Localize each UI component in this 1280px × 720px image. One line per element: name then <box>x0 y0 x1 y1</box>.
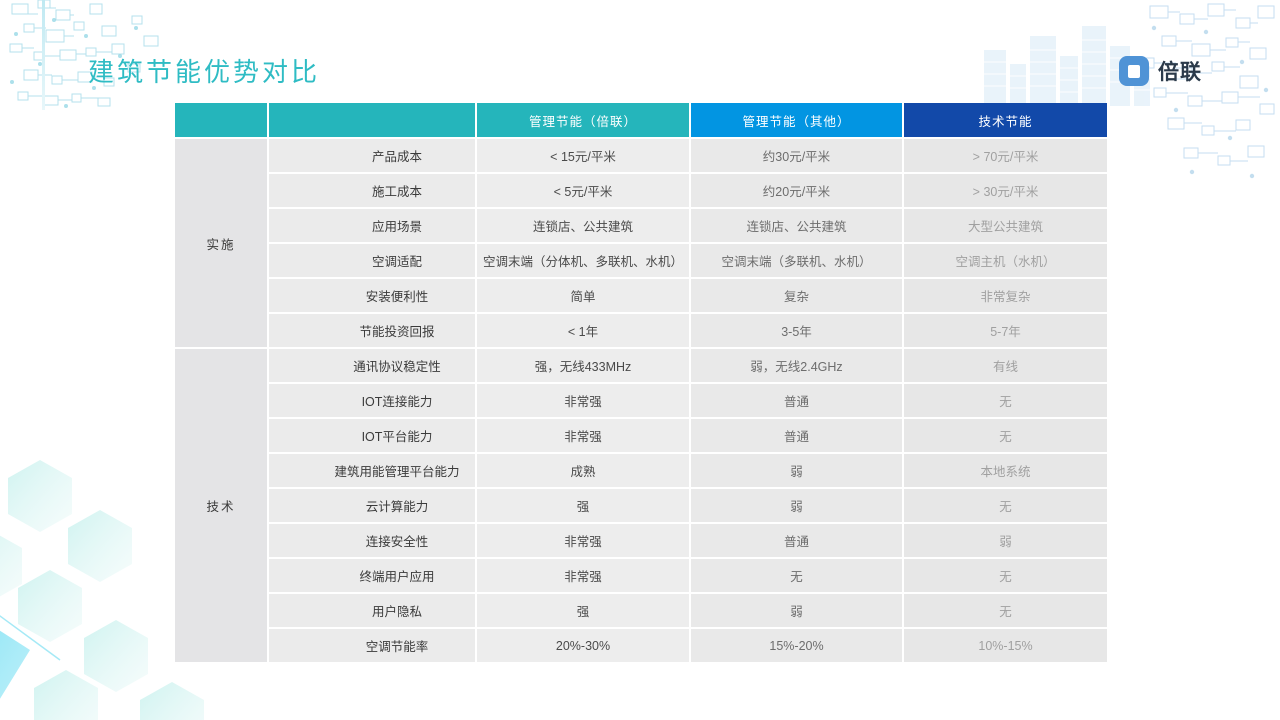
value-cell-tech: 无 <box>903 383 1107 418</box>
table-header-row: 管理节能（倍联） 管理节能（其他） 技术节能 <box>175 103 1107 138</box>
metric-name-cell: 空调节能率 <box>268 628 476 663</box>
metric-name-cell: 云计算能力 <box>268 488 476 523</box>
table-row: 施工成本< 5元/平米约20元/平米> 30元/平米 <box>175 173 1107 208</box>
rounded-square-logo-icon <box>1119 56 1149 86</box>
brand-logo: 倍联 <box>1119 56 1202 86</box>
value-cell-beilian: 20%-30% <box>476 628 690 663</box>
value-cell-other: 空调末端（多联机、水机） <box>690 243 903 278</box>
metric-name-cell: IOT连接能力 <box>268 383 476 418</box>
value-cell-other: 弱 <box>690 488 903 523</box>
value-cell-beilian: 空调末端（分体机、多联机、水机） <box>476 243 690 278</box>
value-cell-tech: 5-7年 <box>903 313 1107 348</box>
metric-name-cell: IOT平台能力 <box>268 418 476 453</box>
table-row: 空调节能率20%-30%15%-20%10%-15% <box>175 628 1107 663</box>
value-cell-beilian: 成熟 <box>476 453 690 488</box>
header-cell-section <box>175 103 268 138</box>
table-row: 安装便利性简单复杂非常复杂 <box>175 278 1107 313</box>
value-cell-other: 无 <box>690 558 903 593</box>
value-cell-tech: 弱 <box>903 523 1107 558</box>
value-cell-beilian: < 5元/平米 <box>476 173 690 208</box>
table-row: IOT平台能力非常强普通无 <box>175 418 1107 453</box>
metric-name-cell: 节能投资回报 <box>268 313 476 348</box>
blue-gradient-shape-decoration <box>0 520 190 720</box>
value-cell-beilian: 非常强 <box>476 523 690 558</box>
value-cell-tech: 本地系统 <box>903 453 1107 488</box>
table-row: 技术通讯协议稳定性强，无线433MHz弱，无线2.4GHz有线 <box>175 348 1107 383</box>
table-row: 空调适配空调末端（分体机、多联机、水机）空调末端（多联机、水机）空调主机（水机） <box>175 243 1107 278</box>
table-row: 实施产品成本< 15元/平米约30元/平米> 70元/平米 <box>175 138 1107 173</box>
value-cell-other: 弱 <box>690 593 903 628</box>
logo-inner-square <box>1128 65 1140 78</box>
metric-name-cell: 用户隐私 <box>268 593 476 628</box>
value-cell-beilian: < 15元/平米 <box>476 138 690 173</box>
header-cell-other: 管理节能（其他） <box>690 103 903 138</box>
section-label-cell: 实施 <box>175 138 268 348</box>
value-cell-beilian: 非常强 <box>476 383 690 418</box>
value-cell-tech: 有线 <box>903 348 1107 383</box>
value-cell-other: 复杂 <box>690 278 903 313</box>
brand-name: 倍联 <box>1158 56 1202 86</box>
value-cell-tech: 无 <box>903 488 1107 523</box>
table-row: 用户隐私强弱无 <box>175 593 1107 628</box>
value-cell-other: 普通 <box>690 383 903 418</box>
page-title: 建筑节能优势对比 <box>88 52 320 89</box>
metric-name-cell: 建筑用能管理平台能力 <box>268 453 476 488</box>
value-cell-tech: 无 <box>903 593 1107 628</box>
table-row: 节能投资回报< 1年3-5年5-7年 <box>175 313 1107 348</box>
value-cell-beilian: < 1年 <box>476 313 690 348</box>
table-header: 管理节能（倍联） 管理节能（其他） 技术节能 <box>175 103 1107 138</box>
comparison-table: 管理节能（倍联） 管理节能（其他） 技术节能 实施产品成本< 15元/平米约30… <box>175 103 1107 664</box>
value-cell-tech: > 30元/平米 <box>903 173 1107 208</box>
table-row: 建筑用能管理平台能力成熟弱本地系统 <box>175 453 1107 488</box>
metric-name-cell: 连接安全性 <box>268 523 476 558</box>
metric-name-cell: 产品成本 <box>268 138 476 173</box>
table-row: 终端用户应用非常强无无 <box>175 558 1107 593</box>
section-label-cell: 技术 <box>175 348 268 663</box>
slide-canvas: 建筑节能优势对比 倍联 管理节能（倍联） 管理节能（其他） 技术节能 实施产品成… <box>0 0 1280 720</box>
value-cell-tech: 无 <box>903 418 1107 453</box>
metric-name-cell: 应用场景 <box>268 208 476 243</box>
value-cell-tech: 无 <box>903 558 1107 593</box>
metric-name-cell: 终端用户应用 <box>268 558 476 593</box>
value-cell-beilian: 连锁店、公共建筑 <box>476 208 690 243</box>
value-cell-other: 3-5年 <box>690 313 903 348</box>
value-cell-beilian: 非常强 <box>476 418 690 453</box>
value-cell-other: 约30元/平米 <box>690 138 903 173</box>
value-cell-tech: 非常复杂 <box>903 278 1107 313</box>
value-cell-tech: 大型公共建筑 <box>903 208 1107 243</box>
value-cell-other: 普通 <box>690 523 903 558</box>
header-cell-tech: 技术节能 <box>903 103 1107 138</box>
table-row: 连接安全性非常强普通弱 <box>175 523 1107 558</box>
accent-bar-decoration <box>42 0 45 110</box>
value-cell-beilian: 强 <box>476 593 690 628</box>
value-cell-other: 弱 <box>690 453 903 488</box>
value-cell-tech: 空调主机（水机） <box>903 243 1107 278</box>
value-cell-beilian: 强，无线433MHz <box>476 348 690 383</box>
table-body: 实施产品成本< 15元/平米约30元/平米> 70元/平米施工成本< 5元/平米… <box>175 138 1107 663</box>
value-cell-other: 连锁店、公共建筑 <box>690 208 903 243</box>
header-cell-metric <box>268 103 476 138</box>
value-cell-other: 约20元/平米 <box>690 173 903 208</box>
metric-name-cell: 施工成本 <box>268 173 476 208</box>
header-cell-beilian: 管理节能（倍联） <box>476 103 690 138</box>
table-row: 云计算能力强弱无 <box>175 488 1107 523</box>
value-cell-other: 弱，无线2.4GHz <box>690 348 903 383</box>
metric-name-cell: 安装便利性 <box>268 278 476 313</box>
value-cell-other: 普通 <box>690 418 903 453</box>
value-cell-tech: 10%-15% <box>903 628 1107 663</box>
metric-name-cell: 空调适配 <box>268 243 476 278</box>
table-row: 应用场景连锁店、公共建筑连锁店、公共建筑大型公共建筑 <box>175 208 1107 243</box>
value-cell-beilian: 强 <box>476 488 690 523</box>
metric-name-cell: 通讯协议稳定性 <box>268 348 476 383</box>
value-cell-other: 15%-20% <box>690 628 903 663</box>
table-row: IOT连接能力非常强普通无 <box>175 383 1107 418</box>
value-cell-beilian: 非常强 <box>476 558 690 593</box>
value-cell-beilian: 简单 <box>476 278 690 313</box>
value-cell-tech: > 70元/平米 <box>903 138 1107 173</box>
